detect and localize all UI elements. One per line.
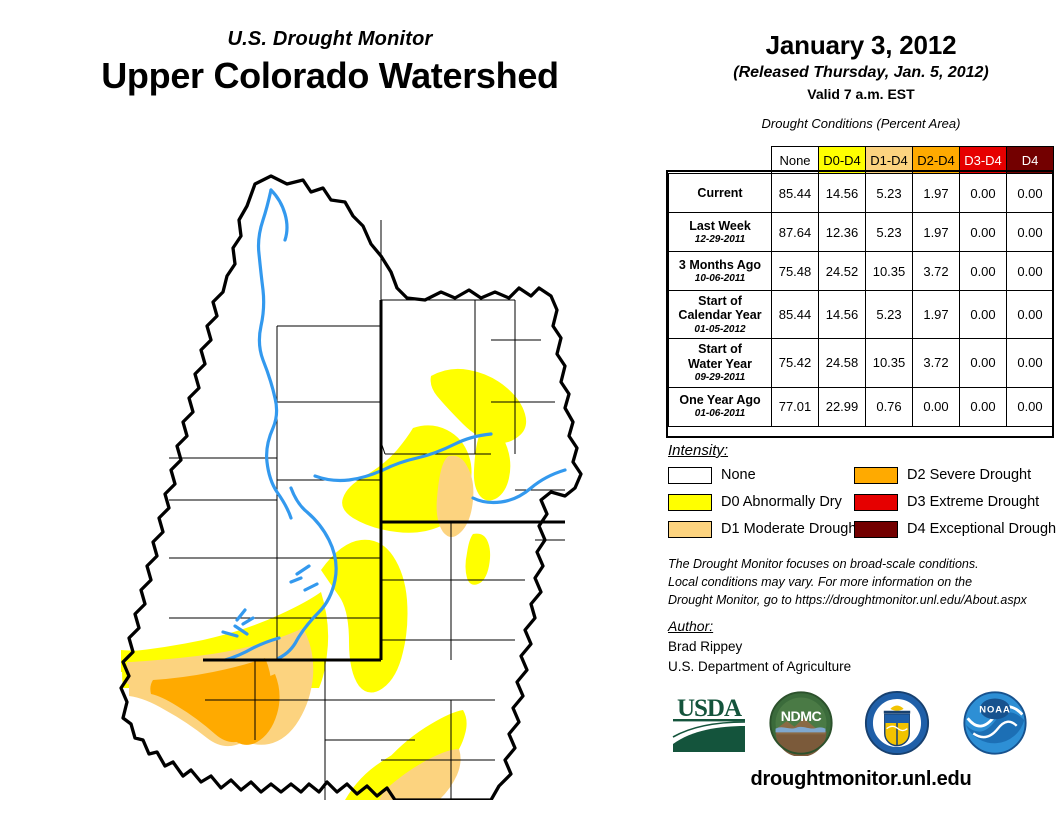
agency-logos: USDA NDMC [666,690,1056,760]
legend-items: NoneD0 Abnormally DryD1 Moderate Drought… [668,465,1056,547]
table-header-d1-d4: D1-D4 [866,147,913,174]
svg-text:NDMC: NDMC [781,708,822,724]
table-cell-value: 0.00 [960,291,1007,339]
table-cell-value: 5.23 [866,291,913,339]
table-cell-value: 14.56 [819,174,866,213]
table-cell-value: 0.00 [1007,213,1054,252]
d0-area-east-sliver [466,534,491,585]
legend-swatch [854,494,898,511]
table-cell-value: 0.00 [960,339,1007,387]
table-cell-value: 0.00 [1007,252,1054,291]
table-cell-value: 0.00 [913,387,960,426]
table-cell-value: 0.00 [960,387,1007,426]
table-cell-value: 0.00 [960,174,1007,213]
table-cell-value: 5.23 [866,213,913,252]
table-cell-value: 0.00 [1007,174,1054,213]
table-header-d0-d4: D0-D4 [819,147,866,174]
row-date: 12-29-2011 [671,234,769,246]
legend-label: D2 Severe Drought [907,467,1031,483]
table-cell-value: 0.00 [1007,291,1054,339]
page-title: U.S. Drought Monitor Upper Colorado Wate… [0,28,660,97]
legend-swatch [668,467,712,484]
table-row: Current85.4414.565.231.970.000.00 [669,174,1054,213]
upper-colorado-watershed-map [95,140,655,800]
table-header-row: NoneD0-D4D1-D4D2-D4D3-D4D4 [669,147,1054,174]
valid-time: Valid 7 a.m. EST [666,86,1056,102]
table-header-d3-d4: D3-D4 [960,147,1007,174]
table-row: Start ofCalendar Year01-05-201285.4414.5… [669,291,1054,339]
intensity-legend: Intensity: NoneD0 Abnormally DryD1 Moder… [668,442,1056,547]
table-cell-value: 1.97 [913,174,960,213]
table-header-none: None [772,147,819,174]
table-cell-value: 0.76 [866,387,913,426]
row-date: 09-29-2011 [671,372,769,384]
legend-item-d1: D1 Moderate Drought [668,519,860,539]
table-cell-value: 10.35 [866,252,913,291]
table-cell-value: 1.97 [913,291,960,339]
noaa-logo: NOAA [960,690,1030,756]
table-caption: Drought Conditions (Percent Area) [666,116,1056,131]
table-cell-value: 0.00 [1007,387,1054,426]
ndmc-logo: NDMC [766,690,836,756]
commerce-seal [862,690,932,756]
author-name: Brad Rippey [668,637,1048,657]
legend-label: D1 Moderate Drought [721,521,860,537]
author-org: U.S. Department of Agriculture [668,657,1048,677]
river-top-branch [271,190,287,240]
drought-monitor-page: U.S. Drought Monitor Upper Colorado Wate… [0,0,1056,816]
table-cell-value: 3.72 [913,252,960,291]
legend-item-none: None [668,465,756,485]
d0-abnormally-dry-areas [121,369,526,800]
row-label: Last Week12-29-2011 [669,213,772,252]
row-label: Start ofCalendar Year01-05-2012 [669,291,772,339]
table-cell-value: 75.48 [772,252,819,291]
table-body: Current85.4414.565.231.970.000.00Last We… [669,174,1054,427]
disclaimer-text: The Drought Monitor focuses on broad-sca… [668,556,1048,609]
disclaimer-line: Local conditions may vary. For more info… [668,574,1048,592]
author-block: Author: Brad Rippey U.S. Department of A… [668,616,1048,678]
title-subtitle: U.S. Drought Monitor [0,28,660,51]
row-label: 3 Months Ago10-06-2011 [669,252,772,291]
table-cell-value: 85.44 [772,291,819,339]
table-cell-value: 24.52 [819,252,866,291]
d0-area-central-south [321,540,408,693]
legend-swatch [668,494,712,511]
table-row: Start ofWater Year09-29-201175.4224.5810… [669,339,1054,387]
river-tributary-b [291,566,317,590]
report-date: January 3, 2012 [666,30,1056,61]
legend-label: D0 Abnormally Dry [721,494,842,510]
table-header-d2-d4: D2-D4 [913,147,960,174]
table-cell-value: 24.58 [819,339,866,387]
d1-area-east-inner [437,456,474,537]
legend-item-d4: D4 Exceptional Drought [854,519,1056,539]
table-cell-value: 22.99 [819,387,866,426]
table-cell-value: 3.72 [913,339,960,387]
table-cell-value: 85.44 [772,174,819,213]
row-label: Current [669,174,772,213]
title-main: Upper Colorado Watershed [0,55,660,97]
row-date: 01-05-2012 [671,324,769,336]
table-row: Last Week12-29-201187.6412.365.231.970.0… [669,213,1054,252]
author-heading: Author: [668,616,1048,637]
legend-swatch [668,521,712,538]
legend-swatch [854,467,898,484]
row-date: 10-06-2011 [671,273,769,285]
legend-item-d3: D3 Extreme Drought [854,492,1039,512]
table-cell-value: 0.00 [1007,339,1054,387]
table-corner-cell [669,147,772,174]
table-header-d4: D4 [1007,147,1054,174]
legend-label: D3 Extreme Drought [907,494,1039,510]
table-row: One Year Ago01-06-201177.0122.990.760.00… [669,387,1054,426]
row-label: Start ofWater Year09-29-2011 [669,339,772,387]
row-label: One Year Ago01-06-2011 [669,387,772,426]
legend-label: None [721,467,756,483]
legend-item-d0: D0 Abnormally Dry [668,492,842,512]
table-cell-value: 0.00 [960,213,1007,252]
legend-swatch [854,521,898,538]
table-cell-value: 75.42 [772,339,819,387]
release-date: (Released Thursday, Jan. 5, 2012) [666,64,1056,82]
table-cell-value: 77.01 [772,387,819,426]
date-block: January 3, 2012 (Released Thursday, Jan.… [666,30,1056,131]
disclaimer-line: The Drought Monitor focuses on broad-sca… [668,556,1048,574]
legend-item-d2: D2 Severe Drought [854,465,1031,485]
table-cell-value: 5.23 [866,174,913,213]
table-cell-value: 14.56 [819,291,866,339]
svg-text:USDA: USDA [677,695,742,722]
usda-logo: USDA [670,690,748,756]
table-cell-value: 87.64 [772,213,819,252]
table-row: 3 Months Ago10-06-201175.4824.5210.353.7… [669,252,1054,291]
table-cell-value: 1.97 [913,213,960,252]
legend-title: Intensity: [668,442,1056,459]
svg-text:NOAA: NOAA [979,704,1010,715]
table-cell-value: 12.36 [819,213,866,252]
table-cell-value: 10.35 [866,339,913,387]
row-date: 01-06-2011 [671,408,769,420]
drought-conditions-table: NoneD0-D4D1-D4D2-D4D3-D4D4 Current85.441… [668,146,1054,427]
website-url: droughtmonitor.unl.edu [666,768,1056,791]
table-cell-value: 0.00 [960,252,1007,291]
disclaimer-line: Drought Monitor, go to https://droughtmo… [668,592,1048,610]
legend-label: D4 Exceptional Drought [907,521,1056,537]
